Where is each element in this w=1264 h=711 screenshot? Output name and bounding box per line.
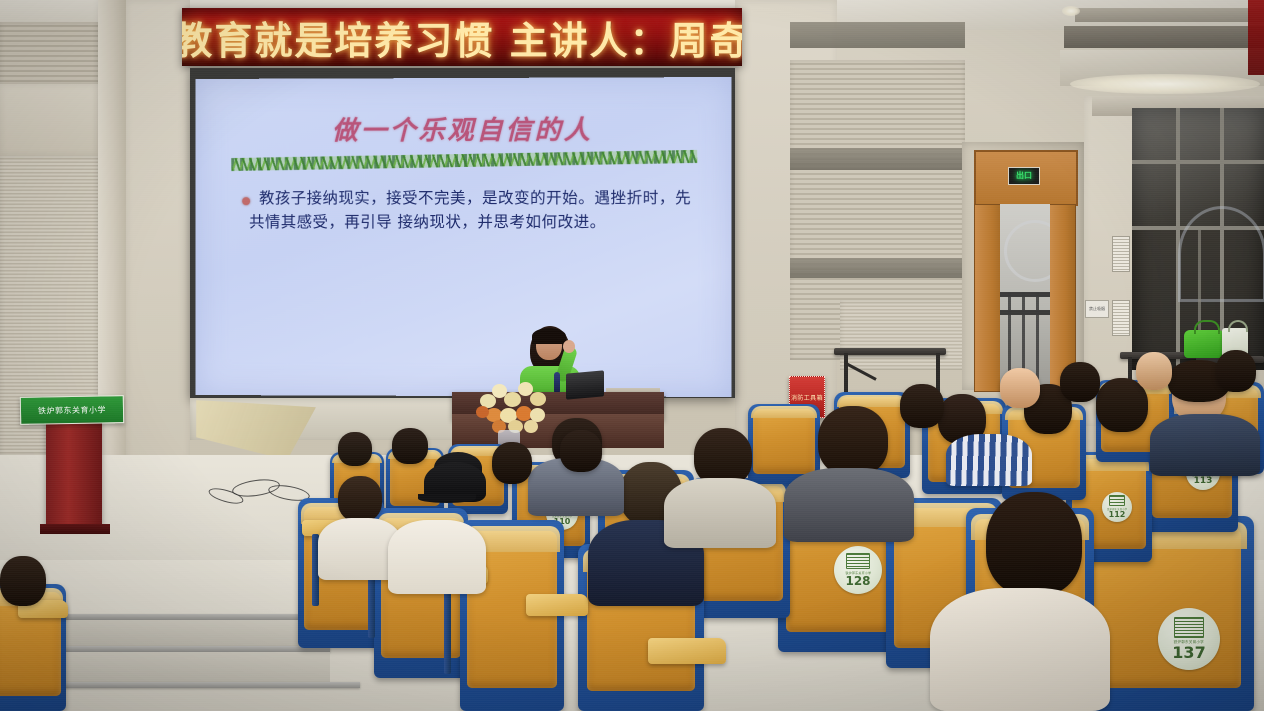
vent-grille-lower — [1112, 300, 1130, 336]
seat-armrest — [648, 638, 726, 664]
flower-petal — [524, 420, 538, 433]
slide-vine-divider-icon — [231, 150, 697, 171]
seat-rim — [837, 395, 907, 407]
seat-number: 112 — [1109, 511, 1126, 519]
attendee-head — [0, 556, 46, 606]
ceiling-light-mid — [1062, 6, 1080, 16]
attendee-head — [1216, 350, 1256, 392]
attendee-head — [1096, 378, 1148, 432]
seat-number: 137 — [1172, 645, 1205, 661]
seat-number-badge: 铁炉郭东关育小学 112 — [1102, 492, 1132, 522]
lectern-school-sign-label: 铁炉郭东关育小学 — [38, 404, 106, 416]
vent-grille-upper — [1112, 236, 1130, 272]
window-arch-reflection — [1178, 206, 1264, 302]
attendee-head — [1000, 368, 1040, 408]
flower-petal — [530, 392, 546, 406]
window-mullion-h1 — [1132, 160, 1264, 164]
seat-back — [753, 409, 815, 475]
door-opening — [1000, 204, 1050, 390]
attendee-shoulders — [1150, 414, 1260, 476]
green-tote-bag — [1184, 330, 1226, 358]
auditorium-photo: 禁止吸烟 教育就是培养习惯 主讲人：周奇 做一个乐观自信的人 教孩子接纳现实，接… — [0, 0, 1264, 711]
wall-slat-right-lower — [840, 300, 968, 370]
no-smoking-sign-label: 禁止吸烟 — [1089, 306, 1105, 312]
ceiling-light-right — [1070, 74, 1260, 94]
attendee-head — [818, 406, 888, 476]
attendee-head — [392, 428, 428, 464]
attendee-shoulders — [946, 434, 1032, 486]
ceiling-beam-right-2 — [1064, 26, 1264, 48]
seat-rim — [751, 406, 817, 417]
attendee-head — [1136, 352, 1172, 390]
presenter-hand — [563, 340, 575, 353]
attendee-shoulders — [784, 468, 914, 542]
flower-petal — [476, 406, 489, 418]
green-tote-bag-handle — [1194, 320, 1220, 334]
no-smoking-sign: 禁止吸烟 — [1085, 300, 1109, 318]
attendee-head — [986, 492, 1082, 596]
attendee-head — [1060, 362, 1100, 402]
seat-armrest-post — [444, 582, 451, 674]
wall-panel-left-mid — [126, 0, 190, 470]
seat-armrest — [526, 594, 588, 616]
lectern-base — [40, 524, 110, 534]
wall-slat-panel-left-upper — [0, 22, 98, 84]
banner-edge-right — [1248, 0, 1264, 75]
ceiling-beam-right — [1075, 8, 1264, 22]
lectern — [46, 418, 102, 526]
slide-title: 做一个乐观自信的人 — [196, 109, 732, 147]
stage-banner-text: 教育就是培养习惯 主讲人：周奇 — [182, 10, 742, 65]
microphone-icon — [554, 372, 560, 394]
attendee-shoulders — [664, 478, 776, 548]
wall-dark-band-b — [790, 148, 965, 170]
seat-number: 113 — [1194, 477, 1213, 486]
lectern-school-sign: 铁炉郭东关育小学 — [20, 395, 124, 425]
seat-badge-school: 铁炉郭东关育小学 — [1107, 507, 1127, 511]
wall-flat-panel-left — [0, 84, 98, 156]
exit-sign: 出口 — [1008, 167, 1040, 185]
fire-equipment-box-label: 消防工具箱 — [791, 393, 823, 402]
attendee-head — [492, 442, 532, 484]
presenter-hair-fringe — [532, 328, 566, 344]
attendee-cap-brim — [418, 494, 476, 503]
attendee-shoulders — [930, 588, 1110, 711]
flower-arrangement — [476, 378, 554, 436]
glass-pane-1 — [1132, 108, 1176, 228]
school-logo-icon — [846, 553, 870, 569]
wall-dark-band-a — [790, 22, 965, 48]
corridor-arch — [1004, 220, 1050, 282]
attendee-shoulders — [388, 520, 486, 594]
slide-body-line-2: 共情其感受，再引导 接纳现状，并思考如何改进。 — [249, 210, 689, 234]
school-logo-icon — [1109, 495, 1125, 506]
exit-sign-label: 出口 — [1016, 172, 1032, 180]
attendee-head — [338, 476, 382, 522]
attendee-head — [338, 432, 372, 466]
seat-number: 128 — [845, 575, 870, 587]
folding-table-1 — [834, 348, 946, 355]
laptop — [566, 370, 604, 399]
attendee-head — [900, 384, 944, 428]
attendee-head — [560, 430, 602, 472]
stage-banner: 教育就是培养习惯 主讲人：周奇 — [182, 8, 742, 66]
seat-number-badge: 铁炉郭东关育小学 128 — [834, 546, 882, 594]
slide-body-line-1: 教孩子接纳现实，接受不完美，是改变的开始。遇挫折时，先 — [259, 186, 699, 210]
wall-dark-band-c — [790, 258, 965, 278]
flower-petal — [504, 392, 521, 407]
seat-badge-school: 铁炉郭东关育小学 — [1174, 639, 1204, 644]
seat-number-badge: 铁炉郭东关育小学 137 — [1158, 608, 1220, 670]
slide-bullet-icon — [242, 197, 250, 205]
school-logo-icon — [1174, 617, 1205, 638]
seat-badge-school: 铁炉郭东关育小学 — [845, 570, 871, 575]
projection-screen: 做一个乐观自信的人 教孩子接纳现实，接受不完美，是改变的开始。遇挫折时，先 共情… — [196, 77, 732, 397]
